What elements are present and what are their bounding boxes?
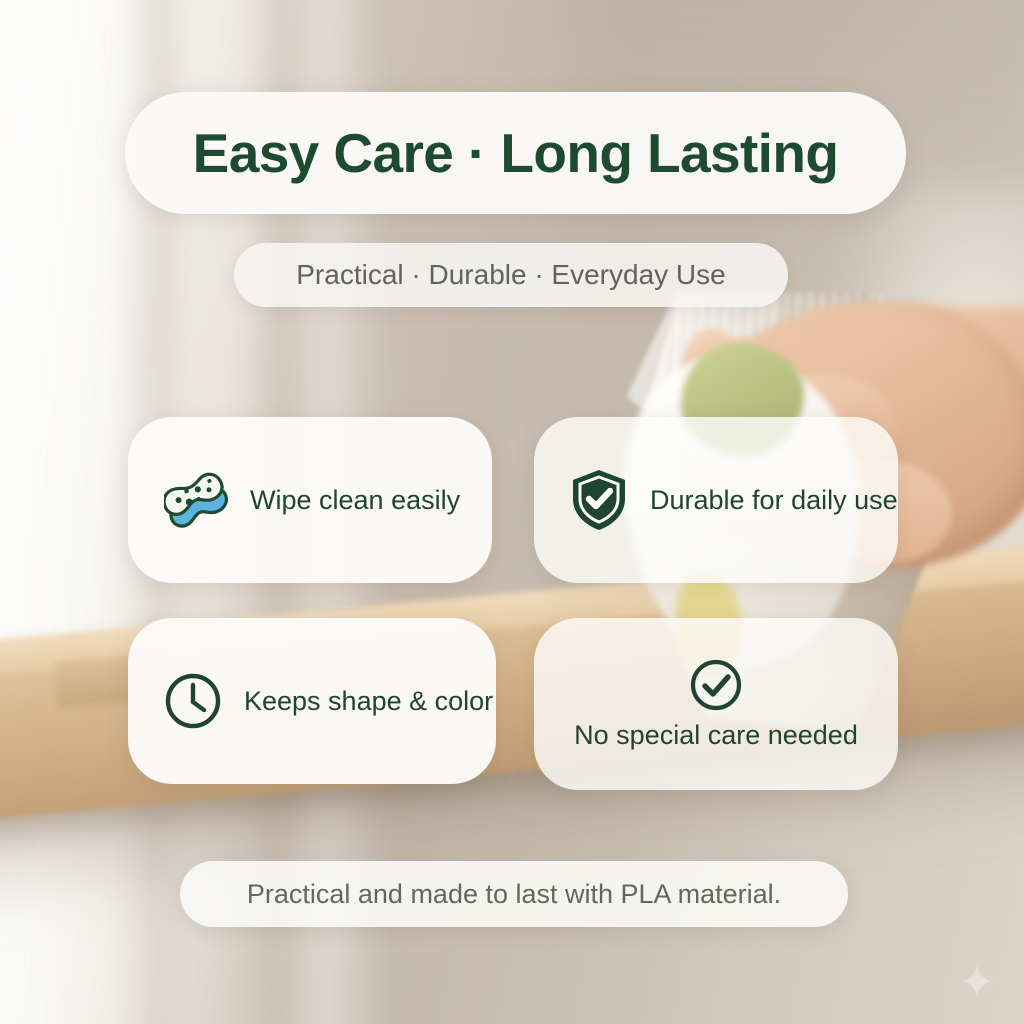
overlay-ui: Easy Care · Long Lasting Practical · Dur… xyxy=(0,0,1024,1024)
shield-check-icon xyxy=(570,468,628,532)
feature-card-wipe-clean[interactable]: Wipe clean easily xyxy=(128,417,492,583)
feature-card-no-special-care[interactable]: No special care needed xyxy=(534,618,898,790)
poster-canvas: Easy Care · Long Lasting Practical · Dur… xyxy=(0,0,1024,1024)
check-circle-icon xyxy=(689,658,743,712)
footer-pill: Practical and made to last with PLA mate… xyxy=(180,861,848,927)
feature-label: Wipe clean easily xyxy=(250,485,460,516)
feature-card-durable[interactable]: Durable for daily use xyxy=(534,417,898,583)
feature-label: No special care needed xyxy=(574,720,858,751)
feature-label: Durable for daily use xyxy=(650,485,898,516)
clock-icon xyxy=(164,672,222,730)
feature-label: Keeps shape & color xyxy=(244,686,493,717)
feature-card-keeps-shape[interactable]: Keeps shape & color xyxy=(128,618,496,784)
sparkle-icon xyxy=(960,964,994,998)
footer-text: Practical and made to last with PLA mate… xyxy=(247,879,781,910)
sponge-icon xyxy=(164,471,228,529)
